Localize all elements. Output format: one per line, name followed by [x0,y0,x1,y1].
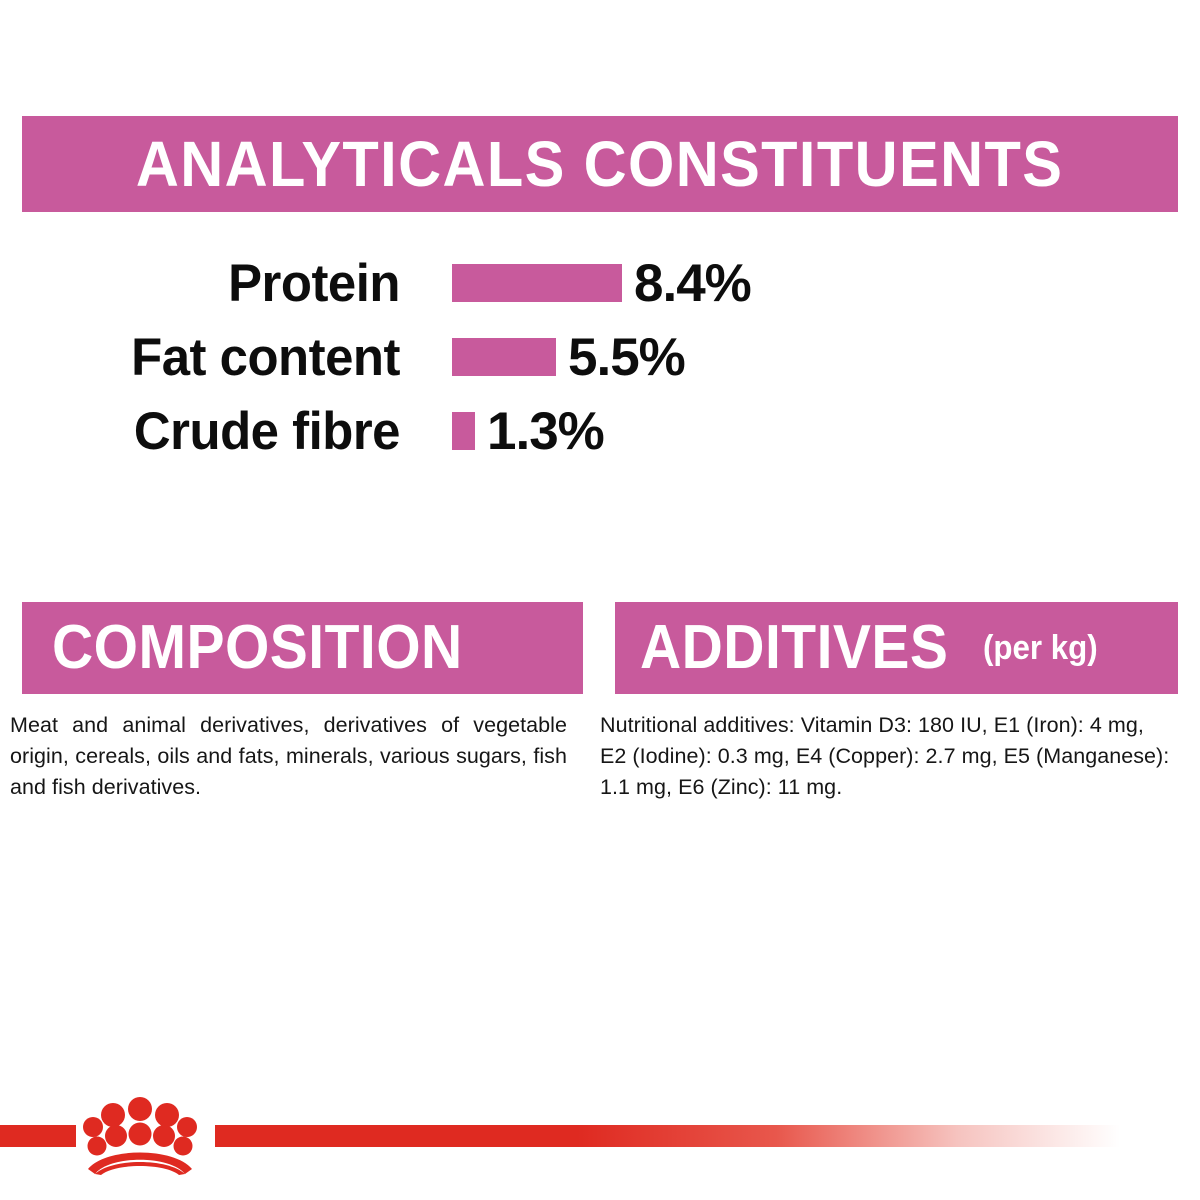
composition-heading: COMPOSITION [52,617,463,679]
constituent-label: Fat content [16,331,400,384]
additives-body-text: Nutritional additives: Vitamin D3: 180 I… [600,710,1170,803]
constituent-bar [452,264,622,302]
additives-section: ADDITIVES (per kg) Nutritional additives… [615,602,1178,803]
constituent-row-protein: Protein 8.4% [0,246,1200,320]
constituent-label: Crude fibre [16,405,400,458]
analytical-constituents-banner: ANALYTICALS CONSTITUENTS [22,116,1178,212]
additives-banner: ADDITIVES (per kg) [615,602,1178,694]
composition-banner: COMPOSITION [22,602,583,694]
royal-canin-crown-icon [82,1095,198,1175]
constituent-row-crude-fibre: Crude fibre 1.3% [0,394,1200,468]
composition-body-text: Meat and animal derivatives, derivatives… [10,710,567,803]
info-sections: COMPOSITION Meat and animal derivatives,… [0,602,1200,803]
footer [0,1125,1200,1149]
constituent-label: Protein [16,257,400,310]
constituents-chart: Protein 8.4% Fat content 5.5% Crude fibr… [0,246,1200,468]
additives-heading: ADDITIVES [640,617,948,679]
constituent-value: 8.4% [634,257,751,310]
composition-section: COMPOSITION Meat and animal derivatives,… [22,602,583,803]
constituent-bar [452,338,556,376]
constituent-value: 5.5% [568,331,685,384]
constituent-row-fat-content: Fat content 5.5% [0,320,1200,394]
footer-accent-bar-right [215,1125,1120,1147]
constituent-bar [452,412,475,450]
footer-accent-bar-left [0,1125,76,1147]
additives-subheading: (per kg) [983,631,1098,665]
page-title: ANALYTICALS CONSTITUENTS [136,132,1063,196]
constituent-value: 1.3% [487,405,604,458]
